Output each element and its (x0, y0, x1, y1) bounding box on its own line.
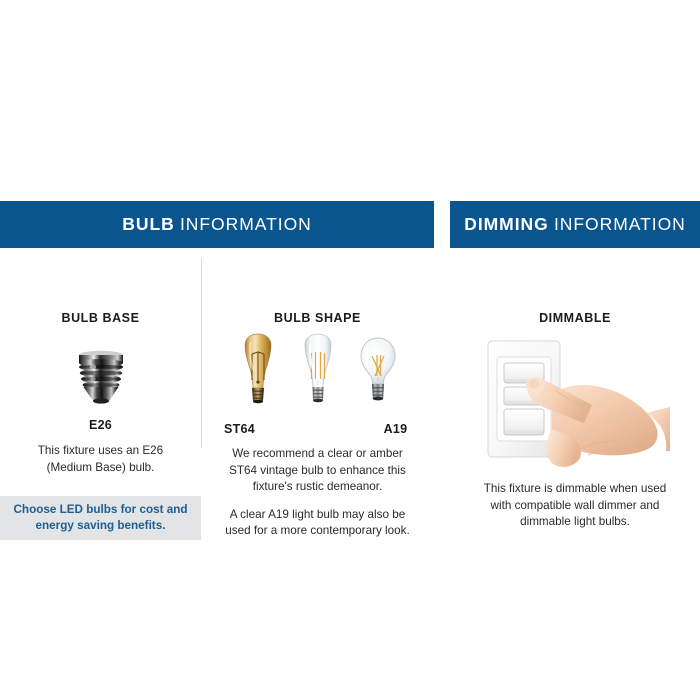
bulb-header-strong: BULB (122, 214, 174, 235)
dimmable-title: DIMMABLE (450, 248, 700, 325)
dimming-header-strong: DIMMING (464, 214, 549, 235)
bulb-shape-paragraph-2: A clear A19 light bulb may also be used … (219, 507, 416, 540)
dimming-header-light: INFORMATION (554, 214, 686, 235)
column-divider (201, 258, 202, 448)
bulb-shape-column: BULB SHAPE (201, 248, 434, 539)
bulb-shape-description: We recommend a clear or amber ST64 vinta… (201, 446, 434, 540)
bulb-shape-paragraph-1: We recommend a clear or amber ST64 vinta… (219, 446, 416, 496)
dimmer-switch-image (450, 333, 700, 473)
st64-clear-figure (295, 332, 341, 416)
st64-caption: ST64 (208, 422, 272, 436)
dimming-information-panel: DIMMING INFORMATION DIMMABLE (450, 201, 700, 539)
dimming-information-body: DIMMABLE (450, 248, 700, 539)
bulb-base-caption: E26 (0, 418, 201, 432)
bulb-dimming-info-page: { "panels": { "bulb": { "header": { "str… (0, 0, 700, 700)
st64-clear-caption (286, 422, 350, 436)
dimmable-description-text: This fixture is dimmable when used with … (474, 481, 676, 531)
a19-clear-figure (355, 332, 401, 416)
wall-dimmer-switch-with-hand-icon (480, 333, 670, 473)
led-tip-text: Choose LED bulbs for cost and energy sav… (0, 502, 201, 534)
e26-bulb-base-icon (69, 345, 133, 409)
led-tip-box: Choose LED bulbs for cost and energy sav… (0, 496, 201, 540)
bulb-base-image (0, 337, 201, 409)
bulb-information-panel: BULB INFORMATION BULB BASE (0, 201, 434, 539)
bulb-information-body: BULB BASE (0, 248, 434, 539)
bulb-information-header: BULB INFORMATION (0, 201, 434, 248)
bulb-shape-title: BULB SHAPE (201, 248, 434, 325)
bulb-shape-captions: ST64 A19 (201, 422, 434, 436)
a19-clear-bulb-icon (355, 332, 401, 416)
bulb-base-title: BULB BASE (0, 248, 201, 325)
bulb-header-light: INFORMATION (180, 214, 312, 235)
st64-amber-figure (235, 332, 281, 416)
bulb-base-description-text: This fixture uses an E26 (Medium Base) b… (22, 443, 179, 476)
bulb-shape-images (201, 330, 434, 416)
st64-clear-bulb-icon (295, 332, 341, 416)
dimming-information-header: DIMMING INFORMATION (450, 201, 700, 248)
bulb-base-description: This fixture uses an E26 (Medium Base) b… (0, 443, 201, 476)
dimmable-description: This fixture is dimmable when used with … (450, 481, 700, 531)
a19-caption: A19 (364, 422, 428, 436)
bulb-base-column: BULB BASE (0, 248, 201, 539)
st64-amber-bulb-icon (235, 332, 281, 416)
